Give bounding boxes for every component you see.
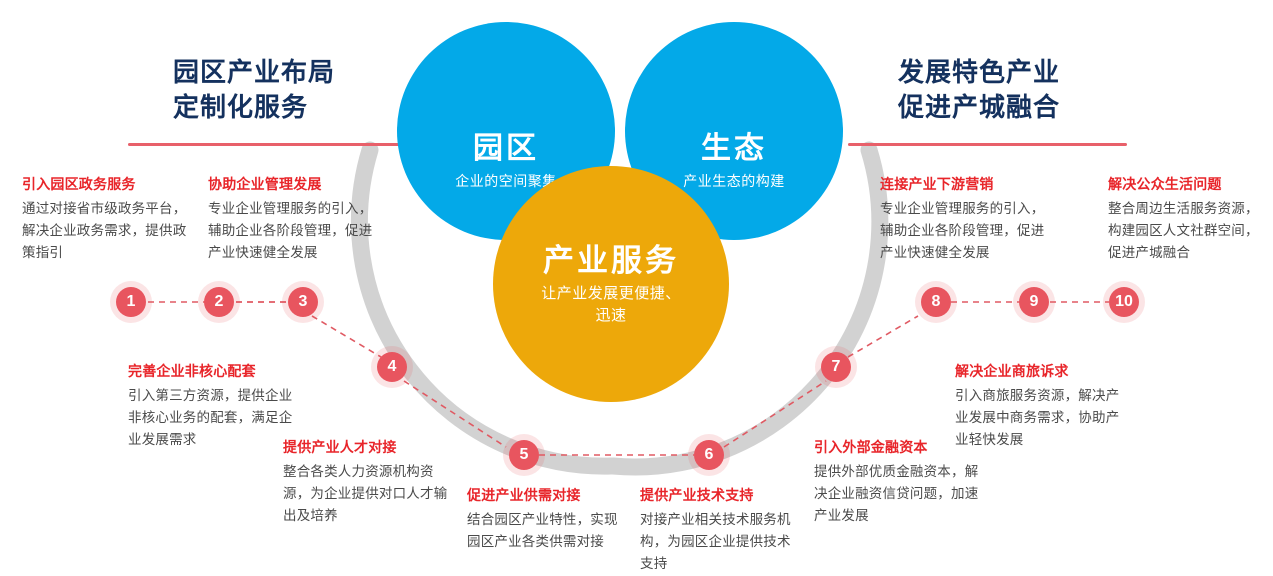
item-block-2: 协助企业管理发展专业企业管理服务的引入，辅助企业各阶段管理，促进产业快速健全发展 bbox=[208, 174, 378, 264]
item-body-5: 整合各类人力资源机构资源，为企业提供对口人才输出及培养 bbox=[283, 461, 458, 527]
item-block-8: 解决企业商旅诉求引入商旅服务资源，解决产业发展中商务需求，协助产业轻快发展 bbox=[955, 361, 1127, 451]
item-body-4: 引入第三方资源，提供企业非核心业务的配套，满足企业发展需求 bbox=[128, 385, 306, 451]
step-node-6[interactable]: 6 bbox=[694, 440, 724, 470]
circle-industry-service-title: 产业服务 bbox=[543, 242, 679, 279]
step-node-10[interactable]: 10 bbox=[1109, 287, 1139, 317]
step-node-3[interactable]: 3 bbox=[288, 287, 318, 317]
item-heading-10: 解决公众生活问题 bbox=[1108, 174, 1268, 195]
circle-industry-service-subtitle: 让产业发展更便捷、迅速 bbox=[536, 283, 686, 327]
item-heading-8: 解决企业商旅诉求 bbox=[955, 361, 1127, 382]
item-block-4: 完善企业非核心配套引入第三方资源，提供企业非核心业务的配套，满足企业发展需求 bbox=[128, 361, 306, 451]
item-body-9: 专业企业管理服务的引入，辅助企业各阶段管理，促进产业快速健全发展 bbox=[880, 198, 1048, 264]
circle-industry-service: 产业服务 让产业发展更便捷、迅速 bbox=[493, 166, 729, 402]
item-heading-4: 完善企业非核心配套 bbox=[128, 361, 306, 382]
step-node-8[interactable]: 8 bbox=[921, 287, 951, 317]
item-body-10: 整合周边生活服务资源，构建园区人文社群空间，促进产城融合 bbox=[1108, 198, 1268, 264]
divider-rule-right bbox=[848, 143, 1127, 146]
item-body-5b: 结合园区产业特性，实现园区产业各类供需对接 bbox=[467, 509, 627, 553]
step-node-4[interactable]: 4 bbox=[377, 352, 407, 382]
circle-park-title: 园区 bbox=[473, 131, 539, 167]
step-node-1[interactable]: 1 bbox=[116, 287, 146, 317]
divider-rule-left bbox=[128, 143, 408, 146]
item-body-6: 对接产业相关技术服务机构，为园区企业提供技术支持 bbox=[640, 509, 800, 575]
item-block-5: 提供产业人才对接整合各类人力资源机构资源，为企业提供对口人才输出及培养 bbox=[283, 437, 458, 527]
item-body-8: 引入商旅服务资源，解决产业发展中商务需求，协助产业轻快发展 bbox=[955, 385, 1127, 451]
item-heading-5b: 促进产业供需对接 bbox=[467, 485, 627, 506]
item-block-10: 解决公众生活问题整合周边生活服务资源，构建园区人文社群空间，促进产城融合 bbox=[1108, 174, 1268, 264]
item-heading-5: 提供产业人才对接 bbox=[283, 437, 458, 458]
circle-ecology-title: 生态 bbox=[701, 131, 767, 167]
item-body-2: 专业企业管理服务的引入，辅助企业各阶段管理，促进产业快速健全发展 bbox=[208, 198, 378, 264]
infographic-canvas: 园区产业布局 定制化服务 发展特色产业 促进产城融合 园区 企业的空间聚集 生态… bbox=[0, 0, 1273, 576]
item-body-1: 通过对接省市级政务平台，解决企业政务需求，提供政策指引 bbox=[22, 198, 197, 264]
circle-ecology-subtitle: 产业生态的构建 bbox=[683, 171, 785, 191]
item-block-9: 连接产业下游营销专业企业管理服务的引入，辅助企业各阶段管理，促进产业快速健全发展 bbox=[880, 174, 1048, 264]
item-block-5b: 促进产业供需对接结合园区产业特性，实现园区产业各类供需对接 bbox=[467, 485, 627, 553]
item-block-6: 提供产业技术支持对接产业相关技术服务机构，为园区企业提供技术支持 bbox=[640, 485, 800, 575]
item-body-7: 提供外部优质金融资本，解决企业融资信贷问题，加速产业发展 bbox=[814, 461, 984, 527]
headline-right: 发展特色产业 促进产城融合 bbox=[898, 55, 1060, 124]
step-node-9[interactable]: 9 bbox=[1019, 287, 1049, 317]
item-heading-1: 引入园区政务服务 bbox=[22, 174, 197, 195]
headline-left: 园区产业布局 定制化服务 bbox=[173, 55, 335, 124]
item-block-1: 引入园区政务服务通过对接省市级政务平台，解决企业政务需求，提供政策指引 bbox=[22, 174, 197, 264]
item-heading-2: 协助企业管理发展 bbox=[208, 174, 378, 195]
step-node-7[interactable]: 7 bbox=[821, 352, 851, 382]
step-node-5[interactable]: 5 bbox=[509, 440, 539, 470]
item-heading-9: 连接产业下游营销 bbox=[880, 174, 1048, 195]
item-heading-6: 提供产业技术支持 bbox=[640, 485, 800, 506]
step-node-2[interactable]: 2 bbox=[204, 287, 234, 317]
